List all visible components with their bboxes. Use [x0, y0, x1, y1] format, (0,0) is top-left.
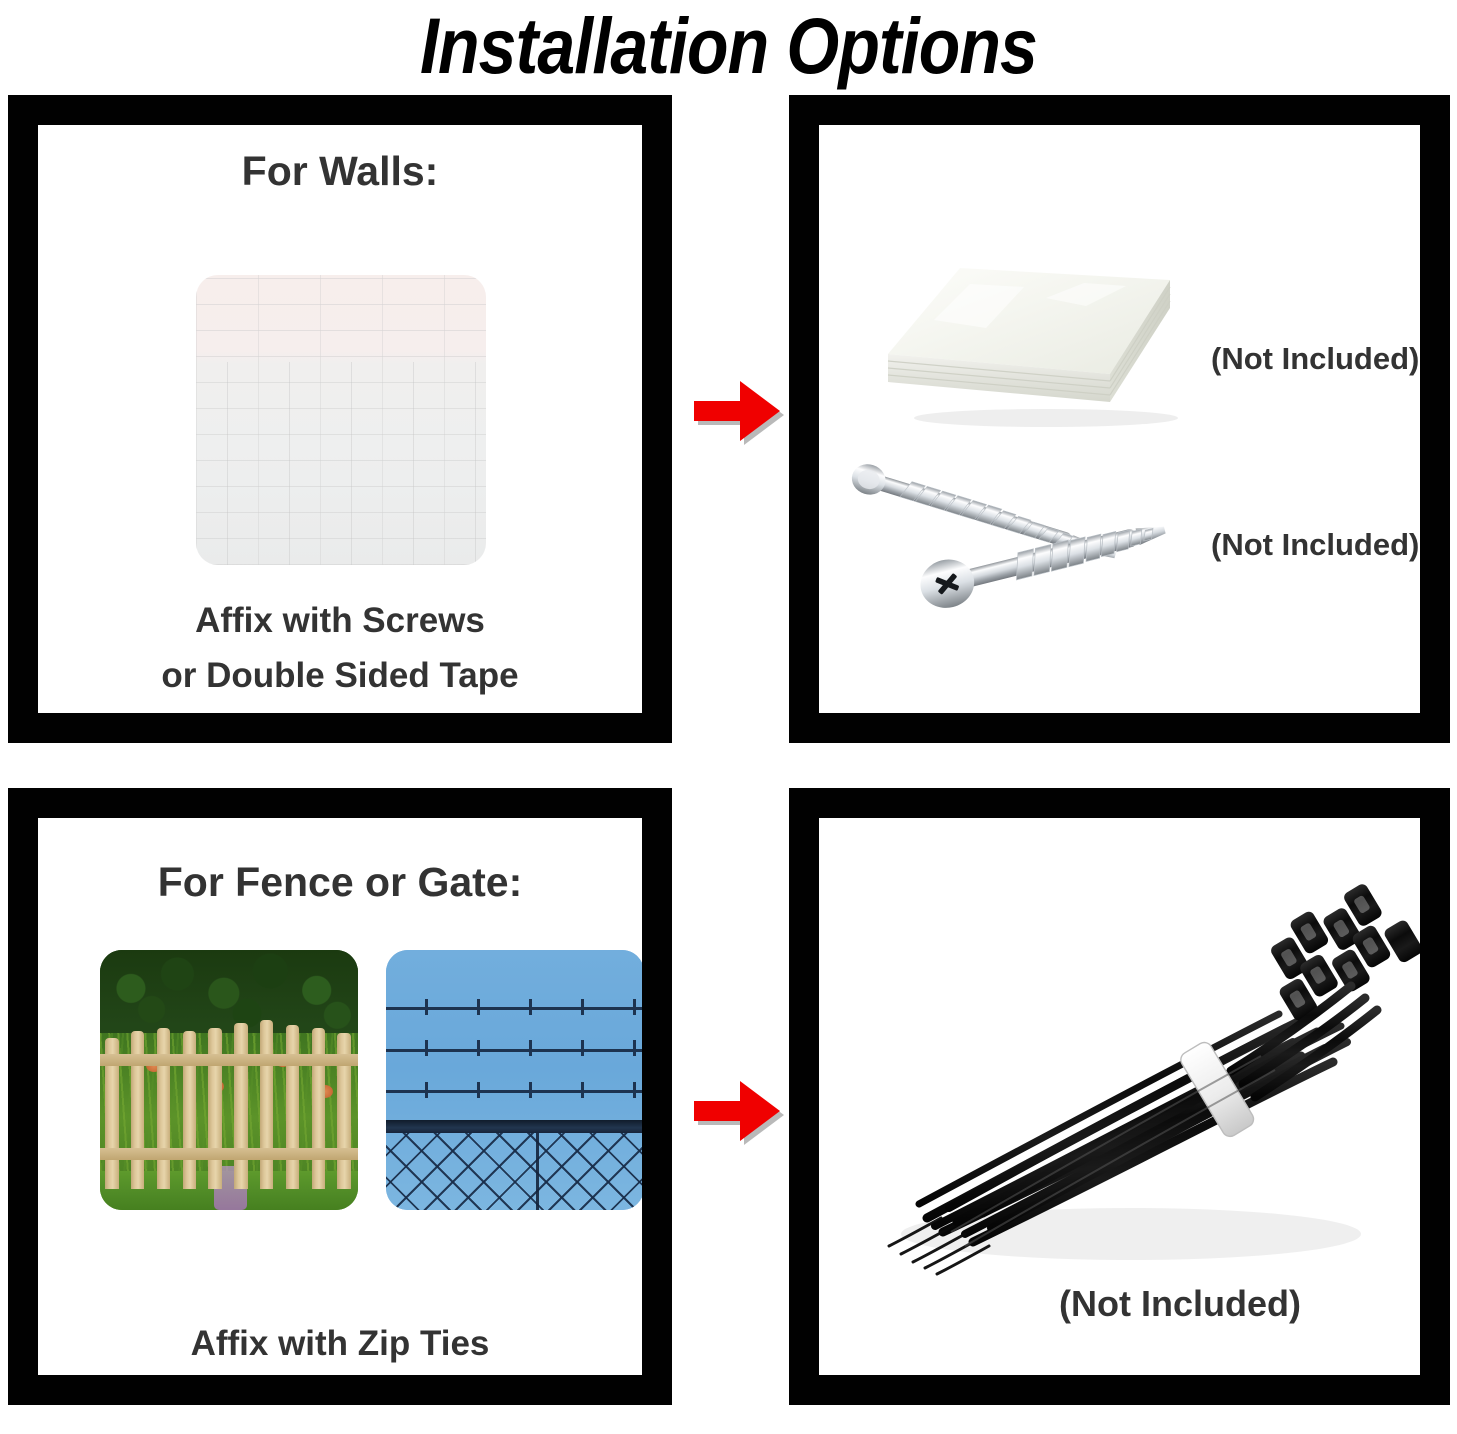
page-title: Installation Options — [102, 2, 1355, 90]
panel-for-walls-heading: For Walls: — [38, 147, 642, 195]
panel-zip-ties-content: (Not Included) — [819, 818, 1420, 1375]
fence-picket — [157, 1028, 170, 1189]
panel-zip-ties: (Not Included) — [789, 788, 1450, 1405]
fence-picket — [234, 1023, 247, 1189]
tape-not-included-label: (Not Included) — [1211, 341, 1419, 377]
fence-picket — [286, 1025, 299, 1189]
fence-picket — [312, 1028, 325, 1189]
fence-picket — [260, 1020, 273, 1189]
panel-for-walls-caption-line1: Affix with Screws — [38, 595, 642, 647]
chain-link-mesh — [386, 1133, 642, 1210]
double-sided-tape-stack-image — [874, 250, 1194, 430]
panel-for-fence-heading: For Fence or Gate: — [38, 858, 642, 906]
panel-walls-hardware-content: (Not Included) — [819, 125, 1420, 713]
zip-ties-not-included-label: (Not Included) — [1059, 1286, 1301, 1322]
wooden-picket-fence-photo — [100, 950, 358, 1210]
arrow-walls-to-hardware-icon — [688, 375, 784, 447]
panel-for-walls-content: For Walls: Affix with Screws or Double S… — [38, 125, 642, 713]
panel-walls-hardware: (Not Included) — [789, 95, 1450, 743]
fence-picket — [208, 1028, 221, 1189]
barbed-wire-strand — [386, 1090, 642, 1093]
panel-for-walls: For Walls: Affix with Screws or Double S… — [8, 95, 672, 743]
white-brick-wall-photo — [196, 275, 486, 565]
chain-link-barbed-wire-fence-photo — [386, 950, 642, 1210]
arrow-fence-to-ziptie-icon — [688, 1075, 784, 1147]
black-zip-tie-bundle-image — [831, 866, 1420, 1286]
panel-for-fence-or-gate: For Fence or Gate: — [8, 788, 672, 1405]
screws-not-included-label: (Not Included) — [1211, 527, 1419, 563]
panel-for-walls-caption-line2: or Double Sided Tape — [38, 650, 642, 702]
panel-for-fence-or-gate-content: For Fence or Gate: — [38, 818, 642, 1375]
panel-for-fence-caption: Affix with Zip Ties — [38, 1318, 642, 1370]
fence-rail — [100, 1054, 358, 1066]
barbed-wire-strand — [386, 1049, 642, 1052]
wood-screws-image — [839, 447, 1189, 647]
fence-rail — [100, 1148, 358, 1160]
barbed-wire-strand — [386, 1007, 642, 1010]
fence-top-rail — [386, 1120, 642, 1133]
mesh-post — [536, 1133, 539, 1210]
